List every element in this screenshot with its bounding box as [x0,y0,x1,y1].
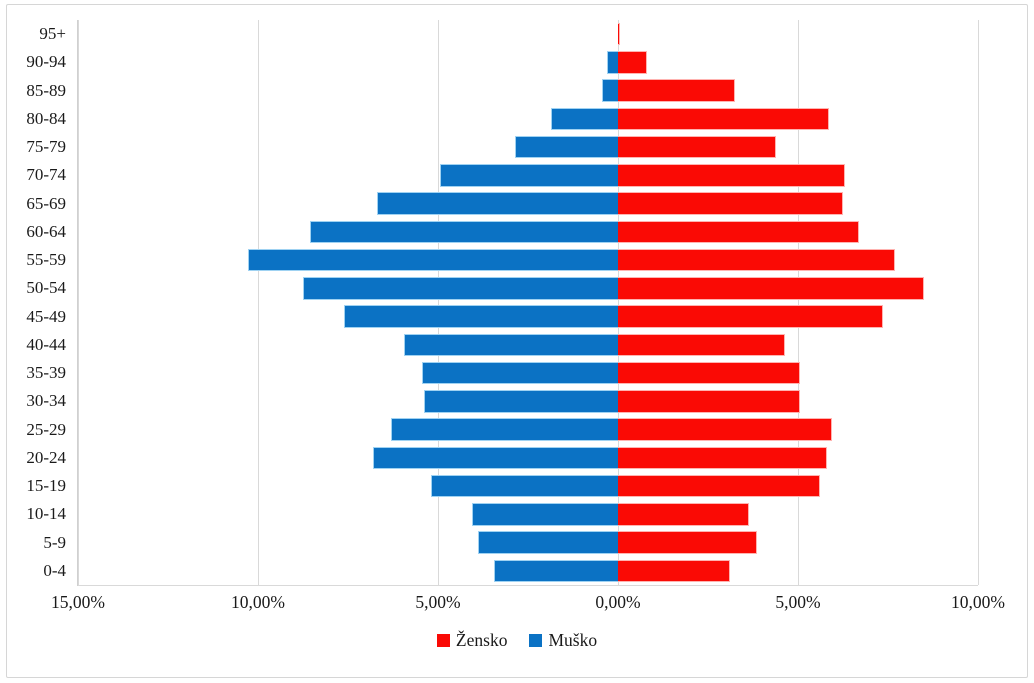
bar-male-55-59[interactable] [248,249,618,272]
bar-male-5-9[interactable] [478,531,618,554]
bar-female-15-19[interactable] [618,475,820,498]
y-axis-label-40-44: 40-44 [26,336,66,353]
pyramid-row [78,108,978,131]
y-axis-label-45-49: 45-49 [26,308,66,325]
bar-female-45-49[interactable] [618,305,883,328]
bar-male-15-19[interactable] [431,475,618,498]
bar-female-10-14[interactable] [618,503,749,526]
y-axis-label-80-84: 80-84 [26,110,66,127]
bar-male-40-44[interactable] [404,334,618,357]
bar-male-0-4[interactable] [494,560,618,583]
x-axis-label-3: 0,00% [595,592,640,613]
bar-female-5-9[interactable] [618,531,757,554]
bar-male-70-74[interactable] [440,164,618,187]
bar-male-25-29[interactable] [391,418,618,441]
bar-male-10-14[interactable] [472,503,618,526]
x-axis-label-4: 5,00% [775,592,820,613]
x-axis-line [78,585,978,586]
y-axis-label-95+: 95+ [39,25,66,42]
pyramid-row [78,503,978,526]
pyramid-row [78,192,978,215]
pyramid-row [78,362,978,385]
bar-male-20-24[interactable] [373,447,618,470]
pyramid-row [78,560,978,583]
y-axis-label-85-89: 85-89 [26,82,66,99]
gridline-5 [978,20,979,585]
bar-female-95+[interactable] [618,23,620,46]
y-axis-label-10-14: 10-14 [26,505,66,522]
legend-item-žensko[interactable]: Žensko [437,630,508,651]
y-axis-label-35-39: 35-39 [26,364,66,381]
y-axis-label-90-94: 90-94 [26,53,66,70]
x-axis-labels: 15,00%10,00%5,00%0,00%5,00%10,00% [0,592,1034,620]
chart-legend: ŽenskoMuško [0,630,1034,651]
bar-female-70-74[interactable] [618,164,845,187]
y-axis-label-15-19: 15-19 [26,477,66,494]
bar-male-30-34[interactable] [424,390,618,413]
pyramid-row [78,136,978,159]
pyramid-row [78,475,978,498]
bar-female-25-29[interactable] [618,418,832,441]
y-axis-labels: 95+90-9485-8980-8475-7970-7465-6960-6455… [0,20,72,585]
y-axis-label-0-4: 0-4 [43,562,66,579]
bar-male-35-39[interactable] [422,362,618,385]
y-axis-label-25-29: 25-29 [26,421,66,438]
bar-female-80-84[interactable] [618,108,829,131]
pyramid-row [78,221,978,244]
bar-female-30-34[interactable] [618,390,800,413]
pyramid-row [78,334,978,357]
y-axis-label-60-64: 60-64 [26,223,66,240]
x-axis-label-0: 15,00% [51,592,105,613]
x-axis-label-2: 5,00% [415,592,460,613]
bar-female-65-69[interactable] [618,192,843,215]
pyramid-row [78,79,978,102]
pyramid-row [78,23,978,46]
bar-female-85-89[interactable] [618,79,735,102]
bar-female-20-24[interactable] [618,447,827,470]
x-axis-label-1: 10,00% [231,592,285,613]
y-axis-line [77,20,78,586]
bar-female-55-59[interactable] [618,249,895,272]
y-axis-label-75-79: 75-79 [26,138,66,155]
bar-male-80-84[interactable] [551,108,618,131]
pyramid-row [78,390,978,413]
x-axis-label-5: 10,00% [951,592,1005,613]
pyramid-row [78,305,978,328]
bar-male-90-94[interactable] [607,51,618,74]
y-axis-label-20-24: 20-24 [26,449,66,466]
y-axis-label-65-69: 65-69 [26,195,66,212]
pyramid-row [78,249,978,272]
y-axis-label-30-34: 30-34 [26,392,66,409]
legend-swatch-icon [437,634,450,647]
legend-swatch-icon [529,634,542,647]
bar-female-50-54[interactable] [618,277,924,300]
bar-male-65-69[interactable] [377,192,618,215]
y-axis-label-50-54: 50-54 [26,279,66,296]
pyramid-row [78,447,978,470]
bar-male-75-79[interactable] [515,136,618,159]
legend-item-muško[interactable]: Muško [529,630,597,651]
bars-group [78,20,978,585]
population-pyramid-chart: 95+90-9485-8980-8475-7970-7465-6960-6455… [0,0,1034,683]
pyramid-row [78,51,978,74]
bar-female-60-64[interactable] [618,221,859,244]
y-axis-label-5-9: 5-9 [43,534,66,551]
y-axis-label-70-74: 70-74 [26,166,66,183]
bar-male-50-54[interactable] [303,277,618,300]
bar-male-60-64[interactable] [310,221,618,244]
legend-label: Muško [548,630,597,651]
pyramid-row [78,277,978,300]
bar-female-35-39[interactable] [618,362,800,385]
plot-area [78,20,978,585]
bar-male-85-89[interactable] [602,79,618,102]
bar-female-75-79[interactable] [618,136,776,159]
bar-female-40-44[interactable] [618,334,785,357]
bar-female-90-94[interactable] [618,51,647,74]
y-axis-label-55-59: 55-59 [26,251,66,268]
bar-male-45-49[interactable] [344,305,618,328]
bar-female-0-4[interactable] [618,560,730,583]
legend-label: Žensko [456,630,508,651]
pyramid-row [78,418,978,441]
pyramid-row [78,164,978,187]
pyramid-row [78,531,978,554]
